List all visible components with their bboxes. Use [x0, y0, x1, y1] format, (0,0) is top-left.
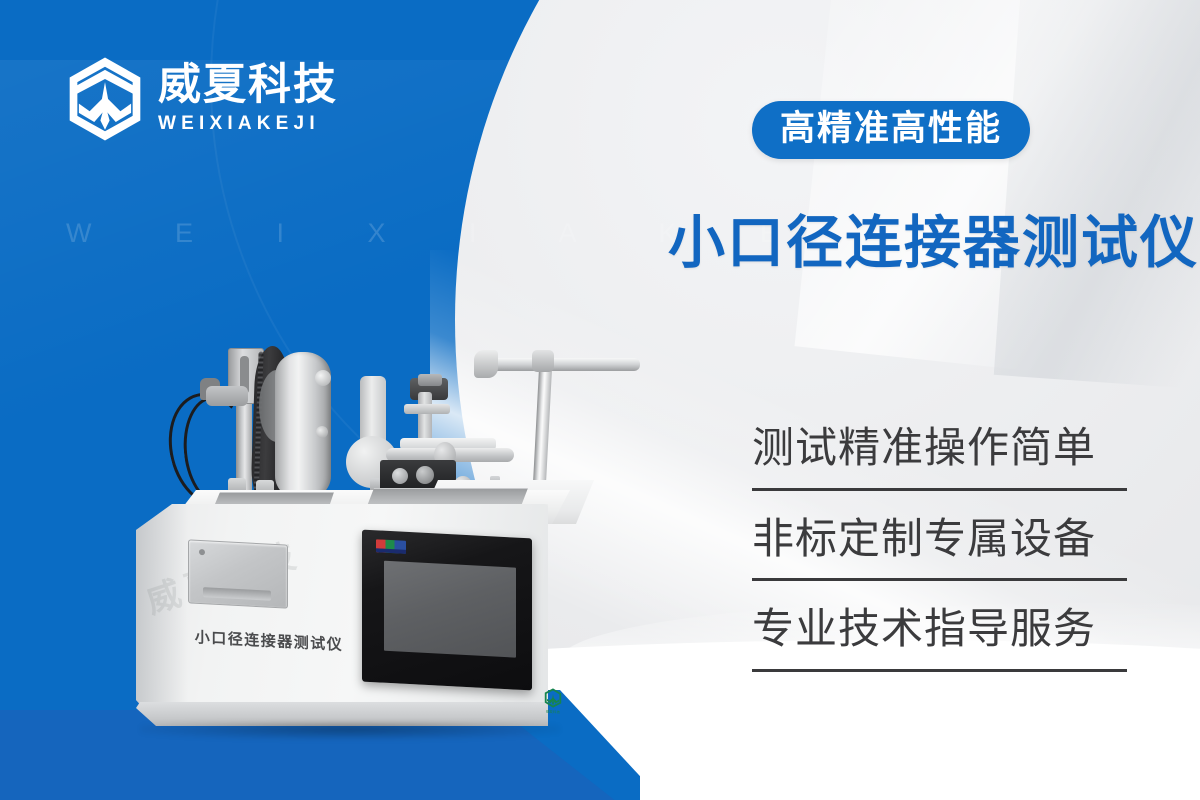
machine-drop-shadow — [140, 722, 560, 740]
headline-badge: 高精准高性能 — [752, 101, 1030, 159]
page-title: 小口径连接器测试仪 — [668, 197, 1199, 279]
machine-hmi-touchscreen[interactable] — [362, 530, 532, 691]
feature-item-3: 专业技术指导服务 — [752, 601, 1132, 672]
product-banner: W E I X I A K E J I 威夏科技 WEIXIAKEJI 高精准高… — [0, 0, 1200, 800]
brand-logo-wordmark: 威夏科技 WEIXIAKEJI — [158, 63, 338, 135]
machine-corner-sticker: 威夏科技 — [540, 687, 566, 718]
corner-sticker-logo-icon — [543, 687, 563, 708]
machine-arm-horizontal — [484, 358, 640, 371]
machine-stage-arm — [404, 404, 450, 414]
feature-item-2: 非标定制专属设备 — [752, 511, 1132, 582]
machine-body-side-shading — [136, 504, 188, 724]
machine-access-panel — [188, 539, 288, 608]
corner-sticker-text: 威夏科技 — [540, 708, 566, 714]
brand-name-en: WEIXIAKEJI — [158, 113, 338, 135]
feature-item-1: 测试精准操作简单 — [752, 420, 1132, 491]
feature-list: 测试精准操作简单 非标定制专属设备 专业技术指导服务 — [752, 420, 1132, 692]
feature-divider-3 — [752, 669, 1127, 672]
machine-left-knuckle — [206, 386, 248, 406]
hmi-brand-sticker-icon — [376, 539, 406, 554]
brand-name-cn: 威夏科技 — [158, 63, 338, 108]
machine-stage-dial-a — [392, 468, 408, 484]
machine-arm-vertical — [532, 358, 552, 494]
machine-drum-cap-top — [315, 370, 331, 386]
hmi-display-screen[interactable] — [384, 561, 516, 658]
machine-arm-elbow — [532, 350, 554, 372]
machine-drum-cap-bottom — [316, 426, 328, 438]
feature-label-3: 专业技术指导服务 — [752, 601, 1132, 658]
machine-stage-head-cap — [418, 374, 442, 386]
feature-label-1: 测试精准操作简单 — [752, 420, 1132, 477]
feature-divider-2 — [752, 578, 1127, 581]
feature-label-2: 非标定制专属设备 — [752, 511, 1132, 568]
feature-divider-1 — [752, 488, 1127, 491]
product-image: 威夏科技 小口径连接器测试仪 威夏科技 — [118, 330, 658, 750]
machine-panel-screw — [199, 549, 205, 555]
hexagon-shield-arrow-logo-icon — [66, 56, 144, 142]
machine-stage-dial-b — [416, 466, 434, 484]
machine-arm-handle — [474, 350, 498, 378]
brand-logo[interactable]: 威夏科技 WEIXIAKEJI — [66, 56, 338, 142]
